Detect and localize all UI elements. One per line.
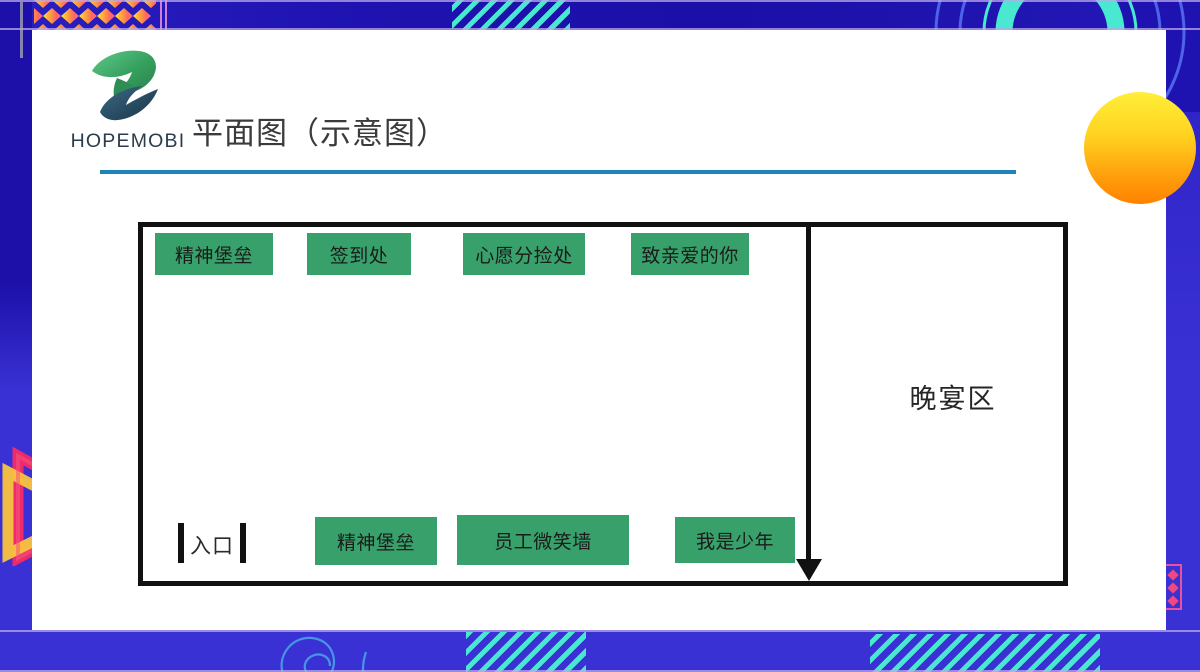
title-underline — [100, 170, 1016, 174]
floor-plan-diagram: 晚宴区 精神堡垒签到处心愿分捡处致亲爱的你精神堡垒员工微笑墙我是少年入口 — [138, 222, 1068, 586]
banquet-area-label: 晚宴区 — [843, 377, 1063, 416]
page-title: 平面图（示意图） — [192, 108, 448, 153]
booth-label: 我是少年 — [675, 517, 795, 563]
diagonal-stripes-bottom-right — [870, 634, 1100, 672]
presentation-slide: HOPEMOBI 平面图（示意图） 晚宴区 精神堡垒签到处心愿分捡处致亲爱的你精… — [0, 0, 1200, 672]
booth-label: 精神堡垒 — [155, 233, 273, 275]
entrance-marker: 入口 — [181, 525, 243, 565]
hairline-bottom-inner — [0, 630, 1200, 632]
frame-band-top — [0, 0, 1200, 30]
hairline-top — [0, 0, 1200, 2]
booth-label: 员工微笑墙 — [457, 515, 629, 565]
slide-header: HOPEMOBI 平面图（示意图） — [60, 48, 1020, 186]
zone-divider-line — [806, 227, 811, 571]
grey-tick-decoration — [20, 2, 23, 58]
diagonal-stripes-bottom — [466, 632, 586, 672]
booth-label: 心愿分捡处 — [463, 233, 585, 275]
booth-label: 签到处 — [307, 233, 411, 275]
brand-logo: HOPEMOBI — [66, 48, 190, 166]
frame-band-bottom — [0, 630, 1200, 672]
ticket-decoration — [1164, 564, 1182, 610]
double-line-decoration — [160, 0, 170, 30]
booth-label: 精神堡垒 — [315, 517, 437, 565]
frame-band-left — [0, 0, 32, 672]
brand-logo-text: HOPEMOBI — [66, 130, 190, 153]
bird-leaf-in-hand-icon — [80, 48, 176, 126]
down-arrow-icon — [796, 559, 822, 581]
diagonal-stripes-top — [452, 0, 570, 30]
booth-label: 致亲爱的你 — [631, 233, 749, 275]
sun-circle-decoration — [1084, 92, 1196, 204]
